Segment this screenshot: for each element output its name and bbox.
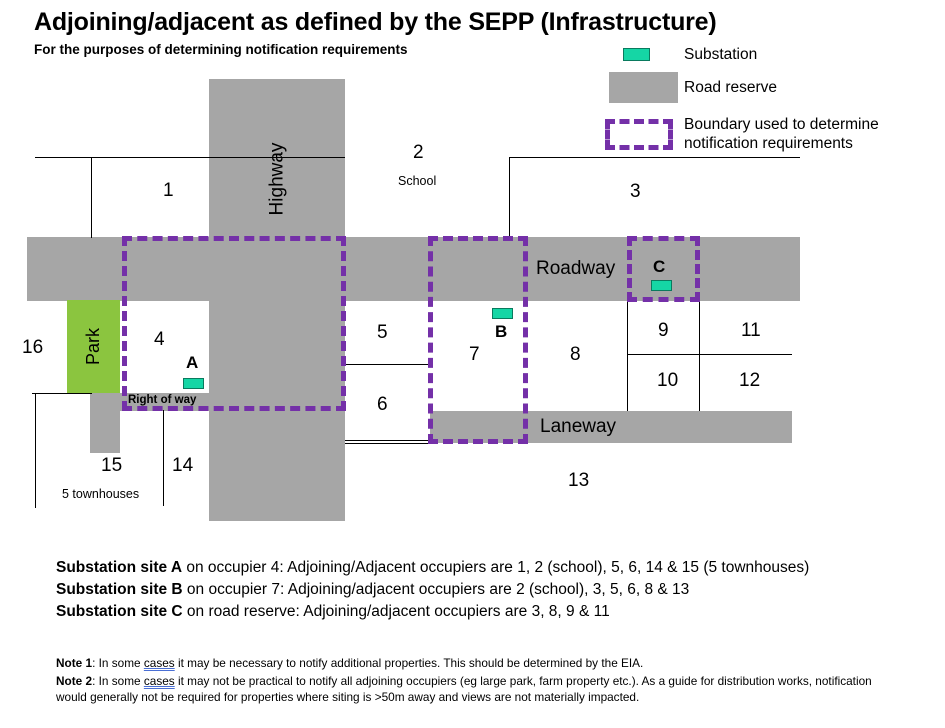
parcel-sublabel-2: School — [398, 174, 436, 188]
boundary-line-top-left — [35, 157, 345, 158]
boundary-line-6-bottom — [345, 440, 430, 441]
substation-label-b: B — [495, 322, 507, 342]
parcel-number-5: 5 — [377, 322, 388, 344]
boundary-rect-site-a — [122, 236, 346, 411]
note-2-underlined: cases — [144, 674, 175, 688]
parcel-number-1: 1 — [163, 180, 174, 202]
site-description-c: Substation site C on road reserve: Adjoi… — [56, 603, 610, 621]
page-subtitle: For the purposes of determining notifica… — [34, 42, 408, 57]
boundary-line-5-6-divider — [345, 364, 430, 365]
note-1-part1: : In some — [92, 656, 144, 670]
boundary-line-9-11-divider — [699, 301, 700, 411]
parcel-number-3: 3 — [630, 181, 641, 203]
boundary-rect-site-b — [428, 236, 528, 444]
legend-substation-label: Substation — [684, 46, 757, 64]
parcel-number-2: 2 — [413, 142, 424, 164]
legend-road-reserve-label: Road reserve — [684, 79, 777, 97]
substation-label-a: A — [186, 353, 198, 373]
substation-label-c: C — [653, 257, 665, 277]
boundary-line-left-edge — [35, 393, 36, 508]
site-a-text: on occupier 4: Adjoining/Adjacent occupi… — [182, 559, 809, 576]
site-c-text: on road reserve: Adjoining/adjacent occu… — [183, 603, 610, 620]
parcel-number-13: 13 — [568, 470, 589, 492]
site-b-text: on occupier 7: Adjoining/adjacent occupi… — [183, 581, 690, 598]
note-1-underlined: cases — [144, 656, 175, 670]
boundary-line-15-14-divider — [163, 410, 164, 506]
parcel-number-10: 10 — [657, 370, 678, 392]
boundary-line-top-right — [509, 157, 800, 158]
substation-marker-b-icon — [492, 308, 513, 319]
road-reserve-right-of-way-vertical — [90, 393, 120, 453]
site-a-bold: Substation site A — [56, 559, 182, 576]
substation-marker-a-icon — [183, 378, 204, 389]
legend-road-reserve-swatch-icon — [609, 72, 678, 103]
note-2: Note 2: In some cases it may not be prac… — [56, 673, 896, 705]
legend-substation-swatch-icon — [623, 48, 650, 61]
boundary-line-16-bottom — [32, 393, 92, 394]
parcel-number-6: 6 — [377, 394, 388, 416]
parcel-number-12: 12 — [739, 370, 760, 392]
laneway-label: Laneway — [540, 416, 616, 438]
site-c-bold: Substation site C — [56, 603, 183, 620]
parcel-number-15: 15 — [101, 455, 122, 477]
parcel-number-16: 16 — [22, 337, 43, 359]
park-label: Park — [83, 328, 104, 365]
substation-marker-c-icon — [651, 280, 672, 291]
park-label-wrap: Park — [67, 300, 120, 393]
parcel-sublabel-15: 5 townhouses — [62, 487, 139, 501]
parcel-number-14: 14 — [172, 455, 193, 477]
note-2-part2: it may not be practical to notify all ad… — [56, 674, 872, 704]
note-1-part2: it may be necessary to notify additional… — [175, 656, 644, 670]
note-1-bold: Note 1 — [56, 656, 92, 670]
legend-boundary-swatch-icon — [605, 119, 673, 150]
legend-boundary-label: Boundary used to determine notification … — [684, 115, 940, 153]
parcel-number-8: 8 — [570, 344, 581, 366]
note-1: Note 1: In some cases it may be necessar… — [56, 655, 906, 671]
page-title: Adjoining/adjacent as defined by the SEP… — [34, 8, 717, 37]
boundary-line-1-16-divider — [91, 157, 92, 238]
site-b-bold: Substation site B — [56, 581, 183, 598]
boundary-line-13-top — [345, 443, 430, 444]
note-2-bold: Note 2 — [56, 674, 92, 688]
site-description-b: Substation site B on occupier 7: Adjoini… — [56, 581, 689, 599]
parcel-number-9: 9 — [658, 320, 669, 342]
site-description-a: Substation site A on occupier 4: Adjoini… — [56, 559, 809, 577]
parcel-number-11: 11 — [741, 320, 761, 342]
boundary-line-2-3-divider — [509, 157, 510, 238]
boundary-line-8-9-divider — [627, 301, 628, 411]
note-2-part1: : In some — [92, 674, 144, 688]
boundary-line-9-10-divider — [627, 354, 792, 355]
roadway-label: Roadway — [536, 258, 615, 280]
